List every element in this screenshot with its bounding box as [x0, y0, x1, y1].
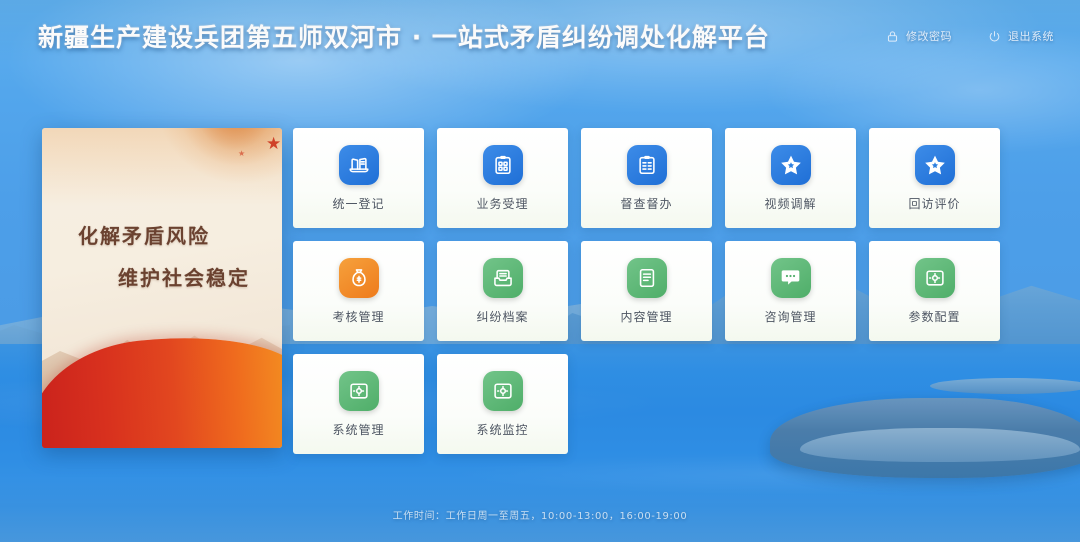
tile-assessment-management[interactable]: 考核管理: [293, 241, 424, 341]
page-title: 新疆生产建设兵团第五师双河市 · 一站式矛盾纠纷调处化解平台: [38, 18, 770, 54]
gear-screen-icon: [483, 371, 523, 411]
tile-system-monitoring[interactable]: 系统监控: [437, 354, 568, 454]
app-header: 新疆生产建设兵团第五师双河市 · 一站式矛盾纠纷调处化解平台 修改密码: [0, 0, 1080, 72]
tile-supervision[interactable]: 督查督办: [581, 128, 712, 228]
logout-button[interactable]: 退出系统: [988, 28, 1054, 44]
gear-screen-icon: [915, 258, 955, 298]
tile-label: 内容管理: [620, 308, 672, 325]
tile-dispute-archive[interactable]: 纠纷档案: [437, 241, 568, 341]
tile-label: 视频调解: [764, 195, 816, 212]
tile-label: 参数配置: [908, 308, 960, 325]
header-actions: 修改密码 退出系统: [886, 28, 1054, 44]
tile-label: 咨询管理: [764, 308, 816, 325]
poster-slogan-line-1: 化解矛盾风险: [78, 220, 210, 249]
tile-label: 纠纷档案: [476, 308, 528, 325]
footer-working-hours: 工作时间：工作日周一至周五，10:00-13:00，16:00-19:00: [0, 507, 1080, 522]
clipboard-icon: [483, 145, 523, 185]
document-lines-icon: [627, 258, 667, 298]
registration-book-icon: [339, 145, 379, 185]
change-password-button[interactable]: 修改密码: [886, 28, 952, 44]
star-badge-icon: [915, 145, 955, 185]
archive-box-icon: [483, 258, 523, 298]
tile-label: 业务受理: [476, 195, 528, 212]
slogan-poster: 化解矛盾风险 维护社会稳定: [42, 128, 282, 448]
gear-screen-icon: [339, 371, 379, 411]
tile-consultation-management[interactable]: 咨询管理: [725, 241, 856, 341]
tile-label: 系统管理: [332, 421, 384, 438]
poster-ribbon-front: [42, 324, 282, 448]
star-badge-icon: [771, 145, 811, 185]
logout-label: 退出系统: [1008, 28, 1054, 44]
tile-followup-evaluation[interactable]: 回访评价: [869, 128, 1000, 228]
tile-label: 督查督办: [620, 195, 672, 212]
tile-label: 系统监控: [476, 421, 528, 438]
tile-label: 统一登记: [332, 195, 384, 212]
module-grid: 统一登记 业务受理: [293, 128, 1009, 454]
app-window: 新疆生产建设兵团第五师双河市 · 一站式矛盾纠纷调处化解平台 修改密码: [0, 0, 1080, 542]
tile-business-acceptance[interactable]: 业务受理: [437, 128, 568, 228]
change-password-label: 修改密码: [906, 28, 952, 44]
tile-label: 回访评价: [908, 195, 960, 212]
power-icon: [988, 30, 1001, 43]
tile-unified-registration[interactable]: 统一登记: [293, 128, 424, 228]
main-content: 化解矛盾风险 维护社会稳定 统一登记: [0, 72, 1080, 492]
tile-system-management[interactable]: 系统管理: [293, 354, 424, 454]
poster-slogan-line-2: 维护社会稳定: [118, 262, 250, 291]
clipboard-check-icon: [627, 145, 667, 185]
tile-label: 考核管理: [332, 308, 384, 325]
tile-content-management[interactable]: 内容管理: [581, 241, 712, 341]
chat-bubble-icon: [771, 258, 811, 298]
lock-icon: [886, 30, 899, 43]
tile-parameter-config[interactable]: 参数配置: [869, 241, 1000, 341]
poster-top-glow: [42, 128, 282, 206]
money-bag-icon: [339, 258, 379, 298]
tile-video-mediation[interactable]: 视频调解: [725, 128, 856, 228]
